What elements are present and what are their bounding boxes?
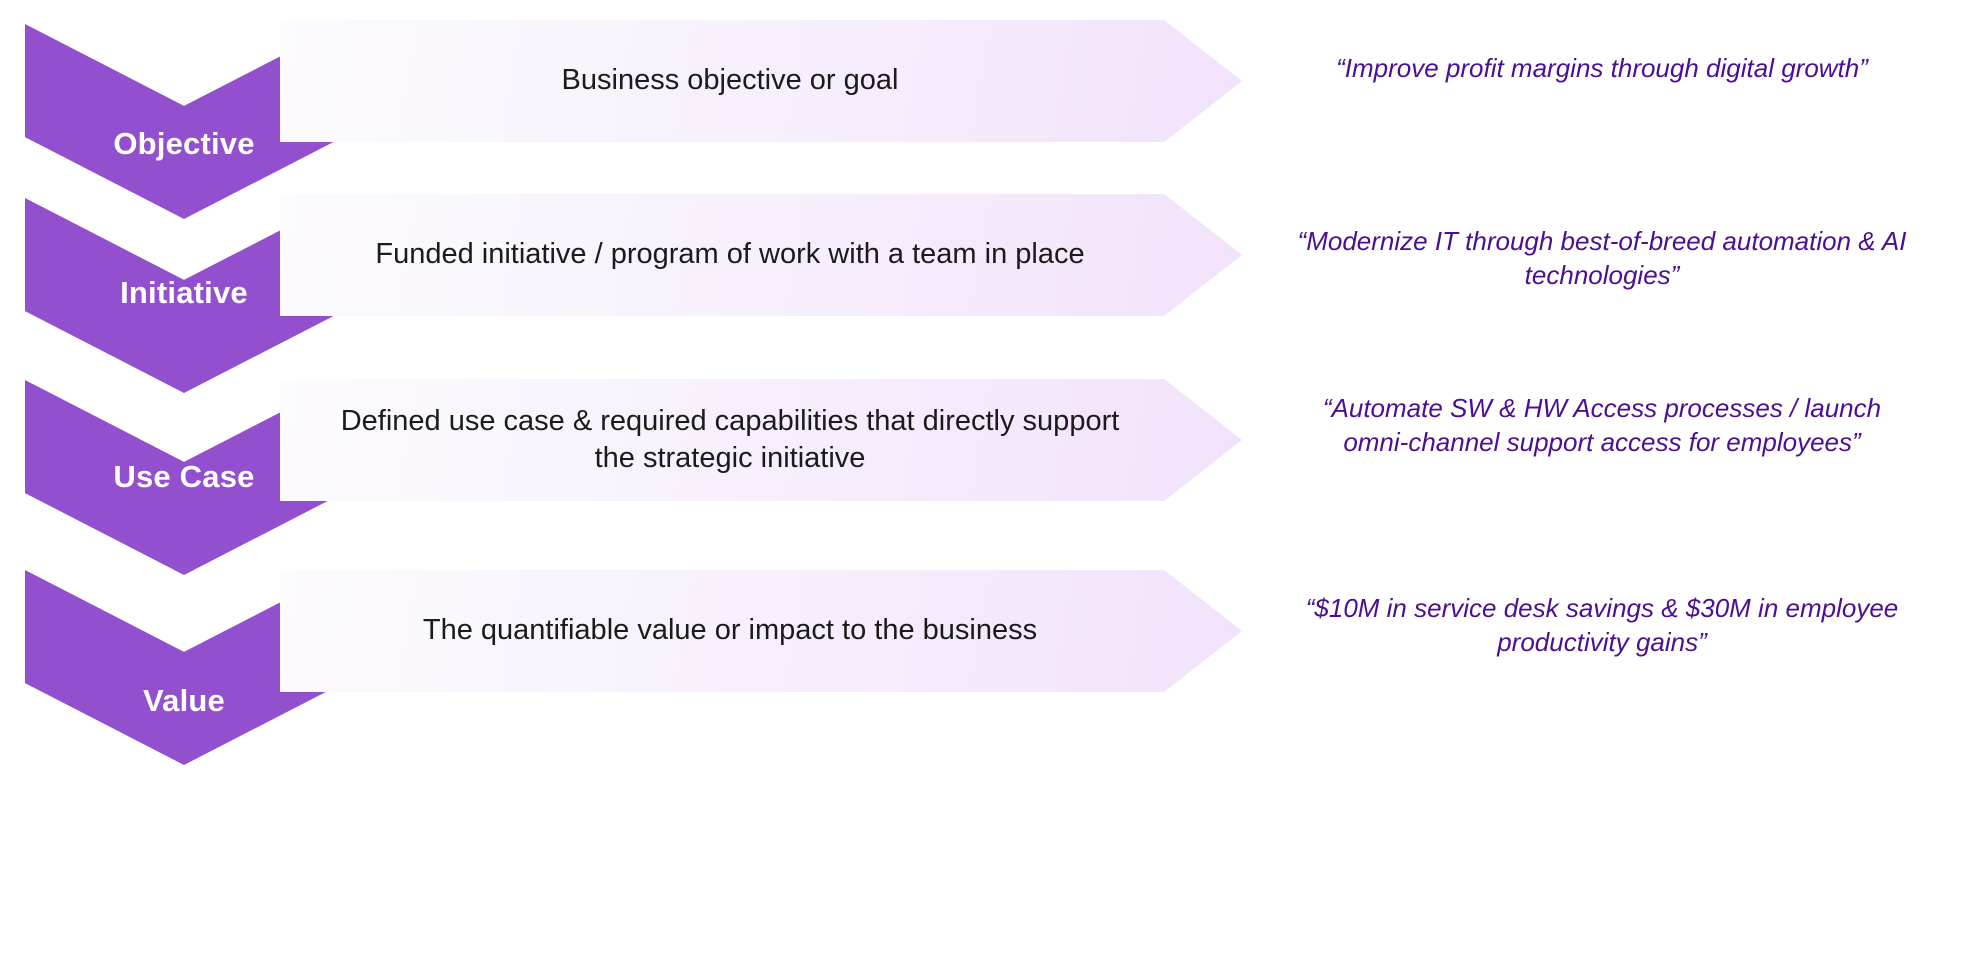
description-text: Defined use case & required capabilities… (320, 403, 1140, 477)
example-quote-value: “$10M in service desk savings & $30M in … (1288, 592, 1916, 660)
example-quote-objective: “Improve profit margins through digital … (1288, 52, 1916, 86)
description-text: Funded initiative / program of work with… (320, 236, 1140, 273)
example-quote-use-case: “Automate SW & HW Access processes / lau… (1288, 392, 1916, 460)
value-cascade-diagram: Objective Business objective or goal “Im… (0, 0, 1962, 962)
description-text: The quantifiable value or impact to the … (320, 612, 1140, 649)
description-banner-initiative[interactable]: Funded initiative / program of work with… (280, 194, 1242, 316)
description-banner-value[interactable]: The quantifiable value or impact to the … (280, 570, 1242, 692)
example-quote-initiative: “Modernize IT through best-of-breed auto… (1288, 225, 1916, 293)
description-banner-use-case[interactable]: Defined use case & required capabilities… (280, 379, 1242, 501)
description-text: Business objective or goal (320, 62, 1140, 99)
description-banner-objective[interactable]: Business objective or goal (280, 20, 1242, 142)
